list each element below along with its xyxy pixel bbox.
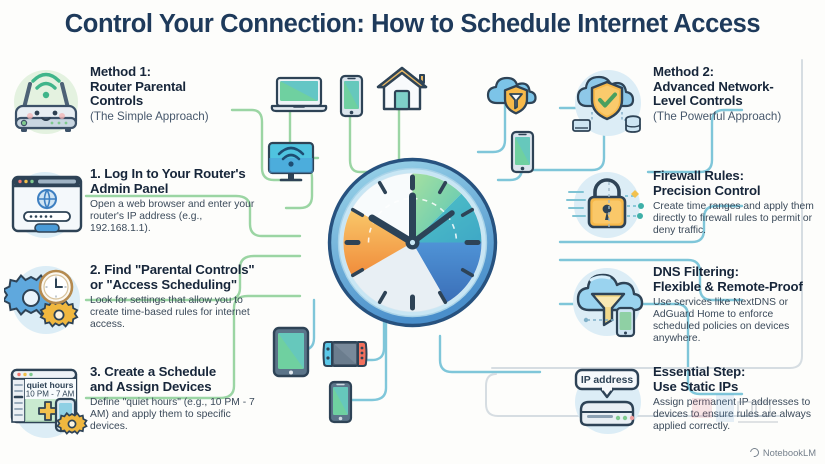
smartphone-bottom-icon — [328, 380, 353, 429]
page-title: Control Your Connection: How to Schedule… — [0, 10, 825, 39]
left-step-1: 1. Log In to Your Router's Admin Panel O… — [4, 164, 256, 244]
gears-clock-icon — [4, 260, 90, 340]
left-step-2-body: Look for settings that allow you to crea… — [90, 295, 256, 331]
method-1-block: Method 1: Router Parental Controls (The … — [4, 62, 256, 142]
smartphone-device-icon — [339, 74, 364, 123]
server-ip-tag-icon: IP address — [565, 362, 651, 442]
method-1-subtitle: (The Simple Approach) — [90, 110, 256, 124]
laptop-device-icon — [270, 74, 328, 121]
notebooklm-watermark: NotebookLM — [750, 447, 816, 458]
cloud-shield-check-icon — [565, 62, 651, 142]
left-step-1-title: 1. Log In to Your Router's Admin Panel — [90, 167, 256, 196]
padlock-firewall-icon — [565, 166, 651, 246]
notebooklm-logo-icon — [748, 446, 761, 459]
left-step-3-body: Define "quiet hours" (e.g., 10 PM - 7 AM… — [90, 397, 256, 433]
right-step-2-body: Use services like NextDNS or AdGuard Hom… — [653, 297, 821, 345]
method-2-title: Method 2: Advanced Network- Level Contro… — [653, 65, 821, 109]
notebooklm-label: NotebookLM — [763, 447, 816, 458]
right-step-1-title: Firewall Rules: Precision Control — [653, 169, 821, 198]
ip-address-label: IP address — [581, 375, 634, 386]
right-step-3-body: Assign permanent IP addresses to devices… — [653, 397, 821, 433]
house-home-icon — [376, 64, 428, 119]
tablet-device-icon — [272, 326, 310, 383]
smart-tv-wifi-icon — [266, 140, 316, 189]
wifi-router-icon — [4, 62, 90, 142]
schedule-label-line2: 10 PM - 7 AM — [26, 390, 75, 399]
game-console-icon — [322, 340, 368, 373]
schedule-label-line1: quiet hours — [27, 380, 74, 390]
right-step-2-title: DNS Filtering: Flexible & Remote-Proof — [653, 265, 821, 294]
left-step-3: quiet hours 10 PM - 7 AM 3. Create a Sch… — [4, 362, 256, 442]
infographic-canvas: Control Your Connection: How to Schedule… — [0, 0, 825, 464]
left-step-2: 2. Find "Parental Controls" or "Access S… — [4, 260, 256, 340]
left-step-1-body: Open a web browser and enter your router… — [90, 199, 256, 235]
right-step-3: IP address Essential Step: Use Static IP… — [565, 362, 821, 442]
method-2-block: Method 2: Advanced Network- Level Contro… — [565, 62, 821, 142]
browser-login-icon — [4, 164, 90, 244]
schedule-clock-illustration — [325, 155, 500, 330]
right-step-1-body: Create time ranges and apply them direct… — [653, 201, 821, 237]
method-1-title: Method 1: Router Parental Controls — [90, 65, 256, 109]
left-step-3-title: 3. Create a Schedule and Assign Devices — [90, 365, 256, 394]
right-step-2: DNS Filtering: Flexible & Remote-Proof U… — [565, 262, 821, 345]
schedule-window-icon: quiet hours 10 PM - 7 AM — [4, 362, 90, 442]
method-2-subtitle: (The Powerful Approach) — [653, 110, 821, 124]
cloud-shield-icon — [483, 70, 543, 125]
right-step-3-title: Essential Step: Use Static IPs — [653, 365, 821, 394]
cloud-funnel-icon — [565, 262, 651, 342]
left-step-2-title: 2. Find "Parental Controls" or "Access S… — [90, 263, 256, 292]
right-step-1: Firewall Rules: Precision Control Create… — [565, 166, 821, 246]
smartphone-right-icon — [510, 130, 535, 179]
